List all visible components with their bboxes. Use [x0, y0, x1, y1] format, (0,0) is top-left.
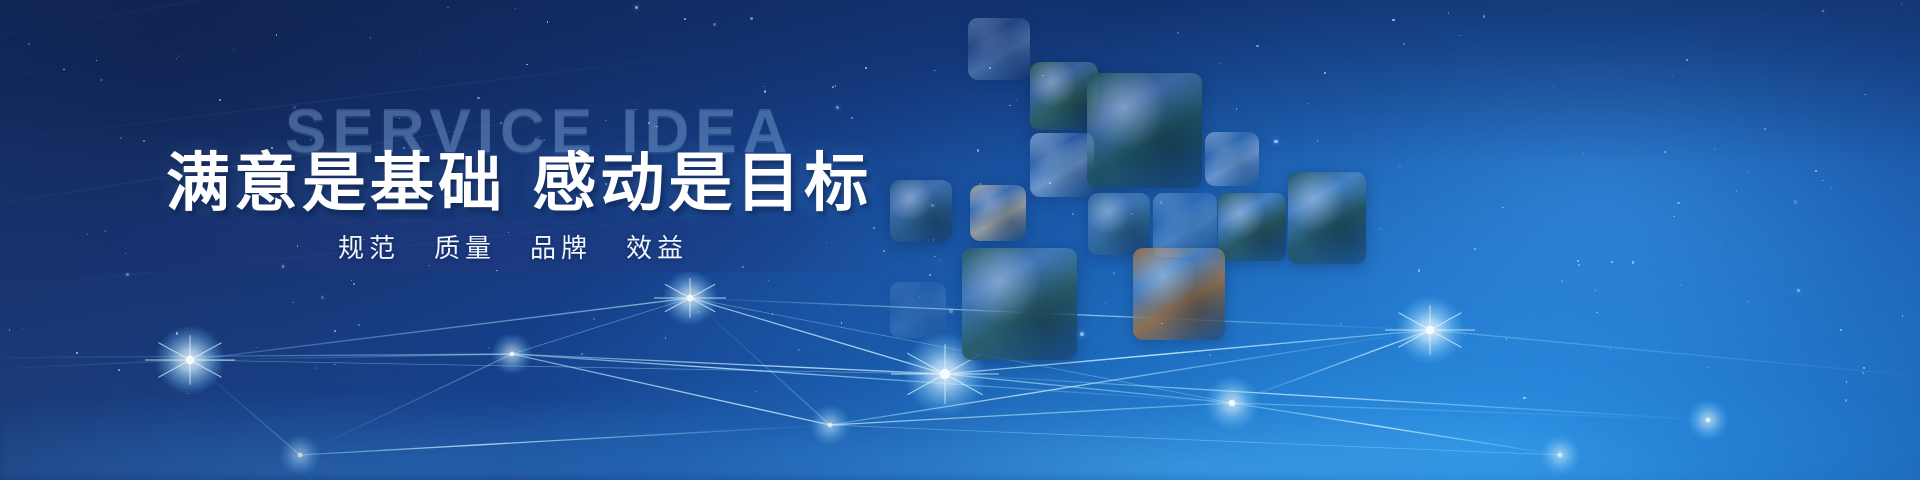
- tile-surgeon-right-edge: [1288, 172, 1366, 264]
- page-title: 满意是基础 感动是目标: [166, 132, 872, 224]
- tile-blue-tint: [970, 185, 1026, 241]
- tile-doctor-elderly-patient: [1133, 248, 1225, 340]
- keyword-1: 规范: [338, 228, 400, 265]
- tile-endoscopy-staff: [1088, 193, 1150, 255]
- tile-blue-tint: [890, 180, 952, 242]
- keyword-4: 效益: [626, 228, 688, 265]
- keyword-3: 品牌: [530, 228, 592, 265]
- tile-blue-tint: [968, 18, 1030, 80]
- tile-blue-tint: [1205, 132, 1259, 186]
- medical-photo-collage: [880, 0, 1380, 480]
- tile-nicu-incubator: [1205, 132, 1259, 186]
- tile-nurse-bedside: [970, 185, 1026, 241]
- tile-blue-tint: [1087, 73, 1202, 188]
- tile-blue-tint: [962, 248, 1077, 360]
- keyword-2: 质量: [434, 228, 496, 265]
- tile-blue-tint: [1218, 193, 1286, 261]
- network-node-8: [1687, 399, 1729, 441]
- tile-consult-desk-female-doctor: [1030, 133, 1094, 197]
- network-node-7: [1385, 295, 1475, 365]
- tile-surgeon-closeup-lamp: [1087, 73, 1202, 188]
- tile-ghost-faint-lower-left: [890, 282, 946, 338]
- tile-blue-tint: [890, 282, 946, 338]
- tile-blue-tint: [1133, 248, 1225, 340]
- tile-doctor-patient-exam-left: [890, 180, 952, 242]
- keyword-list: 规范质量品牌效益: [338, 228, 688, 265]
- network-node-9: [1539, 434, 1581, 476]
- tile-doctor-stethoscope-patient: [968, 18, 1030, 80]
- tile-anesthesia-child: [1218, 193, 1286, 261]
- tile-operating-room-wide: [962, 248, 1077, 360]
- headline-block: SERVICE IDEA 满意是基础 感动是目标 规范质量品牌效益: [0, 0, 880, 480]
- tile-blue-tint: [1030, 133, 1094, 197]
- service-idea-banner: SERVICE IDEA 满意是基础 感动是目标 规范质量品牌效益: [0, 0, 1920, 480]
- tile-blue-tint: [1088, 193, 1150, 255]
- tile-blue-tint: [1288, 172, 1366, 264]
